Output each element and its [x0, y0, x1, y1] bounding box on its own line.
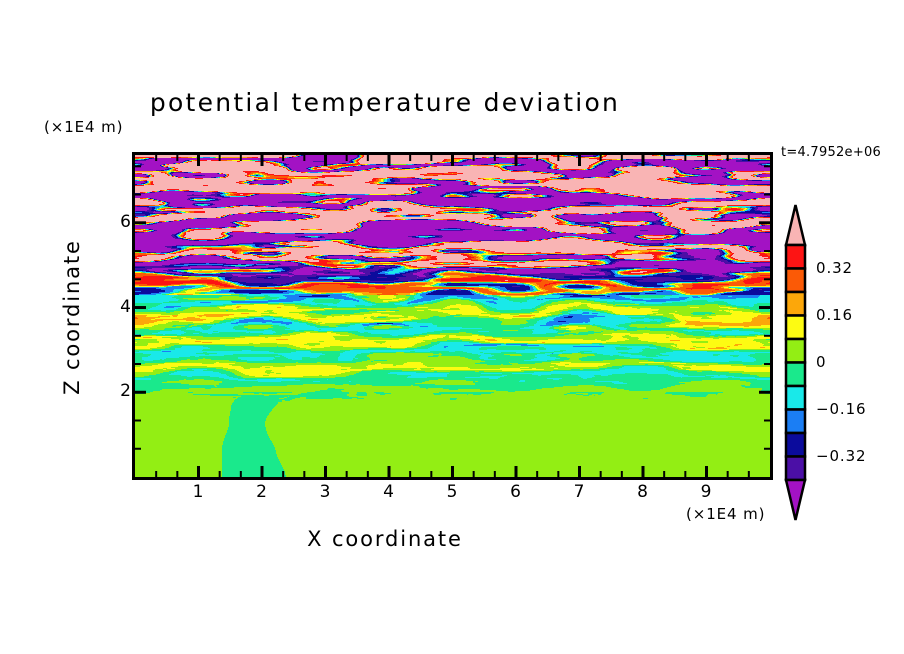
colorbar-band [786, 386, 805, 410]
y-tick-label: 2 [92, 381, 132, 401]
colorbar-tick-label: −0.32 [816, 447, 866, 465]
colorbar-tick-label: 0.32 [816, 259, 853, 277]
page-title: potential temperature deviation [0, 88, 770, 117]
colorbar-band [786, 292, 805, 316]
colorbar-band [786, 339, 805, 363]
colorbar-under-arrow [786, 480, 805, 520]
x-tick-label: 2 [242, 482, 282, 502]
contour-plot-figure: potential temperature deviation (×1E4 m)… [0, 0, 904, 654]
time-stamp-annotation: t=4.7952e+06 [781, 145, 881, 160]
x-tick-label: 6 [496, 482, 536, 502]
colorbar-band [786, 269, 805, 293]
y-tick-label: 4 [92, 297, 132, 317]
colorbar-tick-label: 0 [816, 353, 826, 371]
colorbar-band [786, 245, 805, 269]
colorbar-band [786, 433, 805, 457]
colorbar-over-arrow [786, 205, 805, 245]
colorbar-tick-label: 0.16 [816, 306, 853, 324]
x-axis-unit-label: (×1E4 m) [686, 505, 765, 523]
x-axis-title: X coordinate [0, 527, 770, 551]
x-tick-label: 9 [687, 482, 727, 502]
x-tick-label: 3 [306, 482, 346, 502]
y-tick-label: 6 [92, 212, 132, 232]
x-tick-label: 5 [433, 482, 473, 502]
colorbar-band [786, 316, 805, 340]
z-axis-unit-label: (×1E4 m) [44, 118, 123, 136]
x-tick-label: 8 [623, 482, 663, 502]
colorbar-band [786, 410, 805, 434]
colorbar-tick-label: −0.16 [816, 400, 866, 418]
x-tick-label: 1 [179, 482, 219, 502]
colorbar-band [786, 457, 805, 481]
y-axis-title: Z coordinate [60, 187, 84, 447]
x-tick-label: 7 [560, 482, 600, 502]
colorbar-band [786, 363, 805, 387]
x-tick-label: 4 [369, 482, 409, 502]
